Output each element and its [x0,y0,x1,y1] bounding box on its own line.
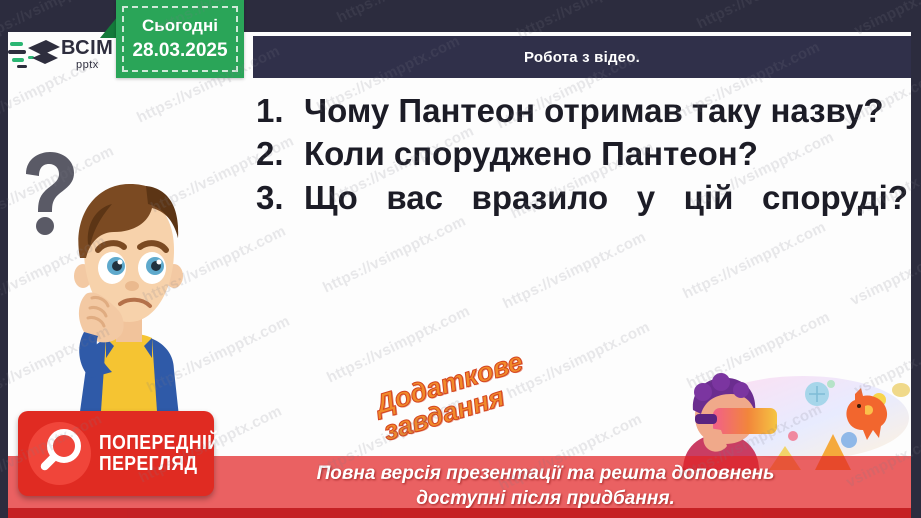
question-number: 2. [256,135,304,172]
question-list: 1. Чому Пантеон отримав таку назву? 2. К… [256,92,908,259]
graduation-cap-icon [8,34,60,74]
date-badge-label: Сьогодні [142,16,218,36]
left-frame-strip [0,0,8,518]
preview-badge-line-1: ПОПЕРЕДНІЙ [99,433,220,453]
thinking-boy-illustration [28,146,228,426]
presentation-slide: ВСІМ pptx Сьогодні 28.03.2025 Робота з в… [0,0,921,518]
question-text: Коли споруджено Пантеон? [304,135,908,172]
question-text: Що вас вразило у цій споруді? [304,179,908,254]
right-frame-strip [911,0,921,518]
question-number: 3. [256,179,304,216]
list-item: 3. Що вас вразило у цій споруді? [256,179,908,254]
list-item: 2. Коли споруджено Пантеон? [256,135,908,172]
magnifier-icon [28,422,91,485]
preview-badge: ПОПЕРЕДНІЙ ПЕРЕГЛЯД [18,411,214,496]
list-item: 1. Чому Пантеон отримав таку назву? [256,92,908,129]
date-badge: Сьогодні 28.03.2025 [116,0,244,78]
date-badge-value: 28.03.2025 [132,40,227,62]
question-number: 1. [256,92,304,129]
question-text: Чому Пантеон отримав таку назву? [304,92,908,129]
logo-subtitle: pptx [76,60,113,71]
banner-bottom-strip [0,508,921,518]
page-title: Робота з відео. [524,49,640,66]
banner-line-1: Повна версія презентації та решта доповн… [317,462,775,487]
logo-title: ВСІМ [61,38,113,58]
slide-title-bar: Робота з відео. [253,36,911,78]
preview-badge-line-2: ПЕРЕГЛЯД [99,454,220,474]
